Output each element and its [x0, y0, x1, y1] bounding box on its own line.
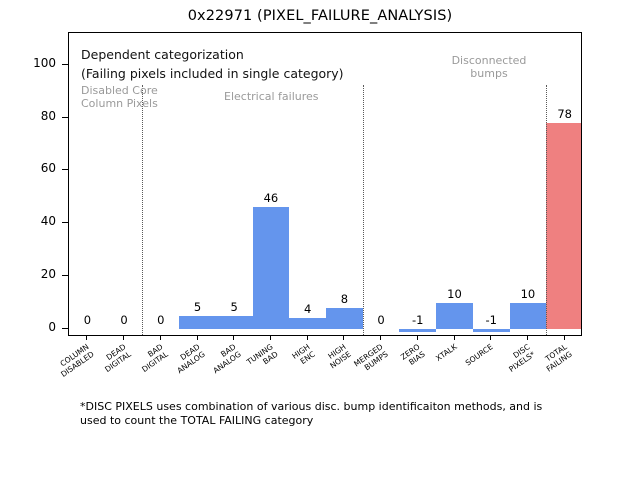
x-tick-mark — [564, 336, 565, 340]
bar — [216, 316, 253, 329]
category-divider — [142, 85, 143, 336]
x-tick-mark — [160, 336, 161, 340]
bar — [436, 303, 473, 329]
bar — [510, 303, 547, 329]
x-tick-mark — [86, 336, 87, 340]
bar — [399, 329, 436, 332]
bar-value-label: 0 — [142, 313, 179, 327]
category-divider — [363, 85, 364, 336]
annotation-heading-line2: (Failing pixels included in single categ… — [81, 66, 344, 81]
bar — [473, 329, 510, 332]
bar — [546, 123, 582, 329]
bar-value-label: 0 — [106, 313, 143, 327]
y-tick-label: 60 — [16, 161, 56, 175]
y-tick-label: 100 — [16, 56, 56, 70]
bar-value-label: 0 — [69, 313, 106, 327]
bar-value-label: 5 — [216, 300, 253, 314]
y-tick-label: 80 — [16, 109, 56, 123]
x-tick-mark — [343, 336, 344, 340]
annotation-group-disabled-core: Disabled Core Column Pixels — [81, 85, 158, 110]
plot-area: 0005546480-110-11078 Dependent categoriz… — [68, 32, 582, 336]
x-tick-mark — [233, 336, 234, 340]
y-tick-label: 40 — [16, 214, 56, 228]
bar — [326, 308, 363, 329]
bar-value-label: -1 — [473, 313, 510, 327]
bar-value-label: 5 — [179, 300, 216, 314]
bar-value-label: 8 — [326, 292, 363, 306]
x-tick-mark — [454, 336, 455, 340]
bar-value-label: 78 — [546, 107, 582, 121]
y-tick-label: 20 — [16, 267, 56, 281]
annotation-group-disconnected: Disconnected bumps — [434, 55, 544, 80]
bar-value-label: 10 — [510, 287, 547, 301]
bar-value-label: 10 — [436, 287, 473, 301]
x-tick-mark — [123, 336, 124, 340]
bar-value-label: 0 — [363, 313, 400, 327]
chart-page: 0x22971 (PIXEL_FAILURE_ANALYSIS) Number … — [0, 0, 640, 480]
bar-value-label: 4 — [289, 302, 326, 316]
x-tick-mark — [197, 336, 198, 340]
y-tick-label: 0 — [16, 320, 56, 334]
chart-title: 0x22971 (PIXEL_FAILURE_ANALYSIS) — [0, 8, 640, 24]
x-tick-mark — [417, 336, 418, 340]
x-tick-mark — [380, 336, 381, 340]
annotation-group-electrical: Electrical failures — [224, 91, 319, 104]
x-tick-mark — [307, 336, 308, 340]
category-divider — [546, 85, 547, 336]
annotation-heading-line1: Dependent categorization — [81, 47, 244, 62]
bar-value-label: -1 — [399, 313, 436, 327]
x-tick-mark — [527, 336, 528, 340]
bar — [253, 207, 290, 329]
x-tick-mark — [270, 336, 271, 340]
bar — [179, 316, 216, 329]
x-tick-mark — [490, 336, 491, 340]
bar-value-label: 46 — [253, 191, 290, 205]
footnote-text: *DISC PIXELS uses combination of various… — [80, 400, 600, 427]
bar — [289, 318, 326, 329]
